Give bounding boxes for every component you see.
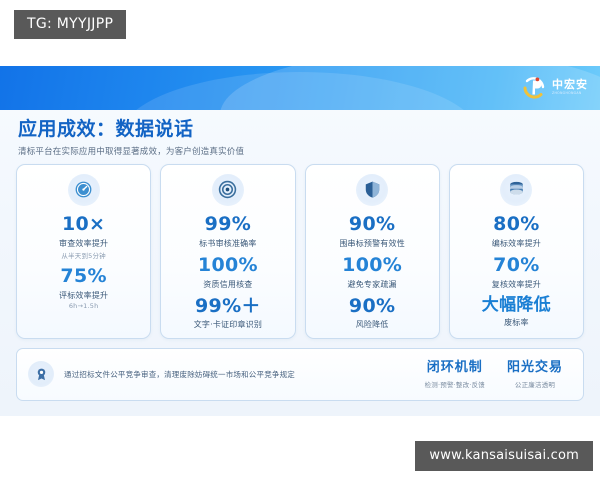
site-watermark-badge: www.kansaisuisai.com — [415, 441, 593, 471]
stat-item: 75% 评标效率提升 6h→1.5h — [59, 266, 108, 310]
brand-logo-cn: 中宏安 — [552, 79, 588, 90]
stat-item: 70% 复核效率提升 — [492, 255, 541, 290]
stat-label: 编标效率提升 — [492, 238, 541, 249]
stat-label: 围串标预警有效性 — [339, 238, 405, 249]
stat-value: 80% — [492, 214, 541, 236]
footer-description: 通过招标文件公平竞争审查，清理废除妨碍统一市场和公平竞争规定 — [64, 369, 425, 380]
brand-logo: 中宏安 ZHONGHONGAN — [522, 75, 588, 100]
brand-logo-mark-icon — [522, 75, 547, 100]
stat-label: 废标率 — [482, 317, 551, 328]
stat-item: 80% 编标效率提升 — [492, 214, 541, 249]
stat-value: 75% — [59, 266, 108, 288]
footer-tag-list: 闭环机制 检测·预警·整改·反馈 阳光交易 公正廉洁透明 — [425, 360, 569, 389]
stat-card[interactable]: 80% 编标效率提升 70% 复核效率提升 大幅降低 废标率 — [449, 164, 584, 339]
stat-card[interactable]: 99% 标书审核准确率 100% 资质信用核查 99%＋ 文字·卡证印章识别 — [160, 164, 295, 339]
presentation-slide: 中宏安 ZHONGHONGAN 应用成效：数据说话 清标平台在实际应用中取得显著… — [0, 66, 600, 416]
stat-item: 99% 标书审核准确率 — [199, 214, 256, 249]
award-ribbon-icon — [28, 361, 54, 387]
stat-item: 100% 资质信用核查 — [198, 255, 258, 290]
stat-label: 避免专家疏漏 — [342, 279, 402, 290]
slide-title-block: 应用成效：数据说话 清标平台在实际应用中取得显著成效，为客户创造真实价值 — [0, 110, 600, 157]
footer-tag: 阳光交易 公正廉洁透明 — [507, 360, 563, 389]
footer-tag-subtitle: 公正廉洁透明 — [507, 379, 563, 389]
database-icon — [500, 174, 532, 206]
slide-hero-band: 中宏安 ZHONGHONGAN — [0, 66, 600, 110]
stat-card[interactable]: 90% 围串标预警有效性 100% 避免专家疏漏 90% 风险降低 — [305, 164, 440, 339]
stat-note: 6h→1.5h — [59, 302, 108, 310]
stat-note: 从半天到5分钟 — [59, 250, 108, 260]
stat-label: 评标效率提升 — [59, 290, 108, 301]
brand-logo-en: ZHONGHONGAN — [552, 92, 588, 95]
stat-card[interactable]: 10× 审查效率提升 从半天到5分钟 75% 评标效率提升 6h→1.5h — [16, 164, 151, 339]
stat-card-list: 10× 审查效率提升 从半天到5分钟 75% 评标效率提升 6h→1.5h — [0, 157, 600, 339]
footer-tag-title: 闭环机制 — [425, 360, 485, 376]
stat-item: 90% 风险降低 — [349, 296, 395, 331]
stat-item: 10× 审查效率提升 从半天到5分钟 — [59, 214, 108, 260]
shield-icon — [356, 174, 388, 206]
stat-value: 100% — [198, 255, 258, 277]
stat-item: 99%＋ 文字·卡证印章识别 — [194, 296, 262, 331]
footer-tag-title: 阳光交易 — [507, 360, 563, 376]
stat-value: 100% — [342, 255, 402, 277]
stat-item: 100% 避免专家疏漏 — [342, 255, 402, 290]
tg-watermark-badge: TG: MYYJJPP — [14, 10, 126, 39]
footer-banner: 通过招标文件公平竞争审查，清理废除妨碍统一市场和公平竞争规定 闭环机制 检测·预… — [16, 348, 584, 401]
gauge-icon — [68, 174, 100, 206]
target-icon — [212, 174, 244, 206]
stat-item: 大幅降低 废标率 — [482, 296, 551, 329]
page-subtitle: 清标平台在实际应用中取得显著成效，为客户创造真实价值 — [18, 145, 600, 157]
page-title: 应用成效：数据说话 — [18, 119, 600, 140]
stat-label: 资质信用核查 — [198, 279, 258, 290]
stat-label: 标书审核准确率 — [199, 238, 256, 249]
stat-label: 复核效率提升 — [492, 279, 541, 290]
stat-value: 10× — [59, 214, 108, 236]
footer-tag: 闭环机制 检测·预警·整改·反馈 — [425, 360, 485, 389]
stat-value: 70% — [492, 255, 541, 277]
footer-tag-subtitle: 检测·预警·整改·反馈 — [425, 379, 485, 389]
stat-value: 99%＋ — [194, 296, 262, 318]
brand-logo-text: 中宏安 ZHONGHONGAN — [552, 79, 588, 95]
stat-value: 99% — [199, 214, 256, 236]
slide-page: TG: MYYJJPP 中宏安 ZHONGHONGAN — [0, 0, 600, 480]
stat-label: 审查效率提升 — [59, 238, 108, 249]
stat-value: 大幅降低 — [482, 296, 551, 316]
stat-value: 90% — [339, 214, 405, 236]
stat-value: 90% — [349, 296, 395, 318]
stat-item: 90% 围串标预警有效性 — [339, 214, 405, 249]
stat-label: 风险降低 — [349, 319, 395, 330]
stat-label: 文字·卡证印章识别 — [194, 319, 262, 330]
